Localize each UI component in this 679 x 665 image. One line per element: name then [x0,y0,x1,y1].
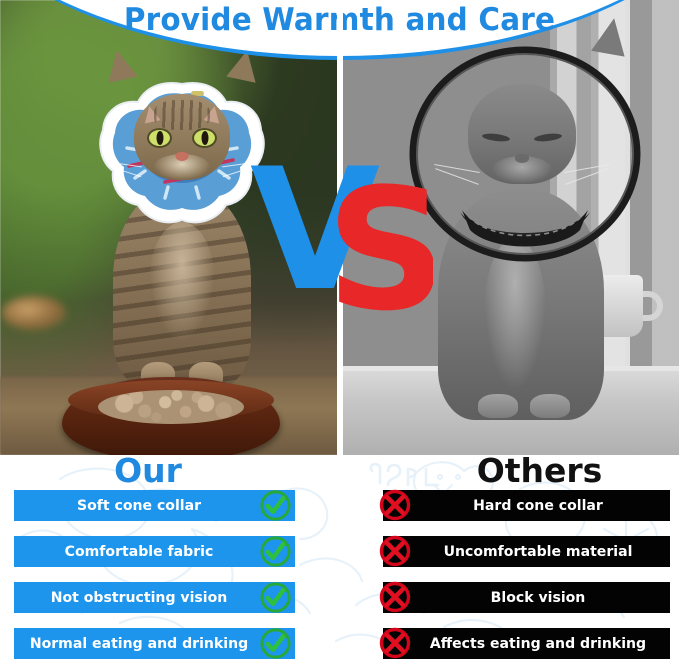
cross-circle-icon [377,533,413,569]
feature-label: Affects eating and drinking [410,628,666,659]
product-comparison-poster: V S Provide Warmth and Care [0,0,679,665]
cat-forehead-stripes [154,100,210,130]
tabby-cat-illustration [103,68,261,388]
check-circle-icon [258,580,293,615]
check-circle-icon [258,488,293,523]
check-circle-icon [258,534,293,569]
cat-paw-left [478,394,518,418]
feature-row-our: Not obstructing vision [0,582,340,613]
feature-row-others: Hard cone collar [340,490,679,521]
feature-label: Uncomfortable material [410,536,666,567]
cat-pupil-right [201,131,208,145]
cat-head [134,94,230,180]
cross-circle-icon [377,487,413,523]
feature-label: Comfortable fabric [18,536,261,567]
feature-label: Hard cone collar [410,490,666,521]
gray-cat-illustration [414,40,628,420]
feature-row-our: Normal eating and drinking [0,628,340,659]
versus-badge: V S [248,148,433,323]
others-feature-list: Hard cone collar Uncomfortable material [340,490,679,665]
comparison-column-our: Our Soft cone collar Comfortable fabric [0,455,340,665]
feature-row-others: Uncomfortable material [340,536,679,567]
cat-eye-left [147,128,172,148]
cross-circle-icon [377,625,413,661]
cat-chest [149,222,215,342]
background-light-blur [2,296,66,330]
feature-label: Normal eating and drinking [18,628,261,659]
feature-row-our: Soft cone collar [0,490,340,521]
food-bowl [62,377,280,455]
cat-eye-right [192,128,217,148]
feature-label: Block vision [410,582,666,613]
cat-nose [176,152,189,161]
cat-ear-left [102,47,138,83]
bowl-rim [68,380,274,420]
hard-cone-collar-icon [402,44,648,290]
feature-comparison-section: Our Soft cone collar Comfortable fabric [0,455,679,665]
check-circle-icon [258,626,293,661]
comparison-column-others: Others Hard cone collar Uncomfortable ma… [340,455,679,665]
feature-row-others: Block vision [340,582,679,613]
cross-circle-icon [377,579,413,615]
versus-letter-s: S [326,152,433,323]
feature-label: Soft cone collar [18,490,261,521]
cat-pupil-left [156,131,163,145]
column-heading-others: Others [370,455,679,490]
cat-food-kibble [98,390,244,424]
our-feature-list: Soft cone collar Comfortable fabric [0,490,340,665]
cat-paw-right [530,394,570,418]
feature-row-our: Comfortable fabric [0,536,340,567]
column-heading-our: Our [0,455,318,490]
feature-row-others: Affects eating and drinking [340,628,679,659]
feature-label: Not obstructing vision [18,582,261,613]
